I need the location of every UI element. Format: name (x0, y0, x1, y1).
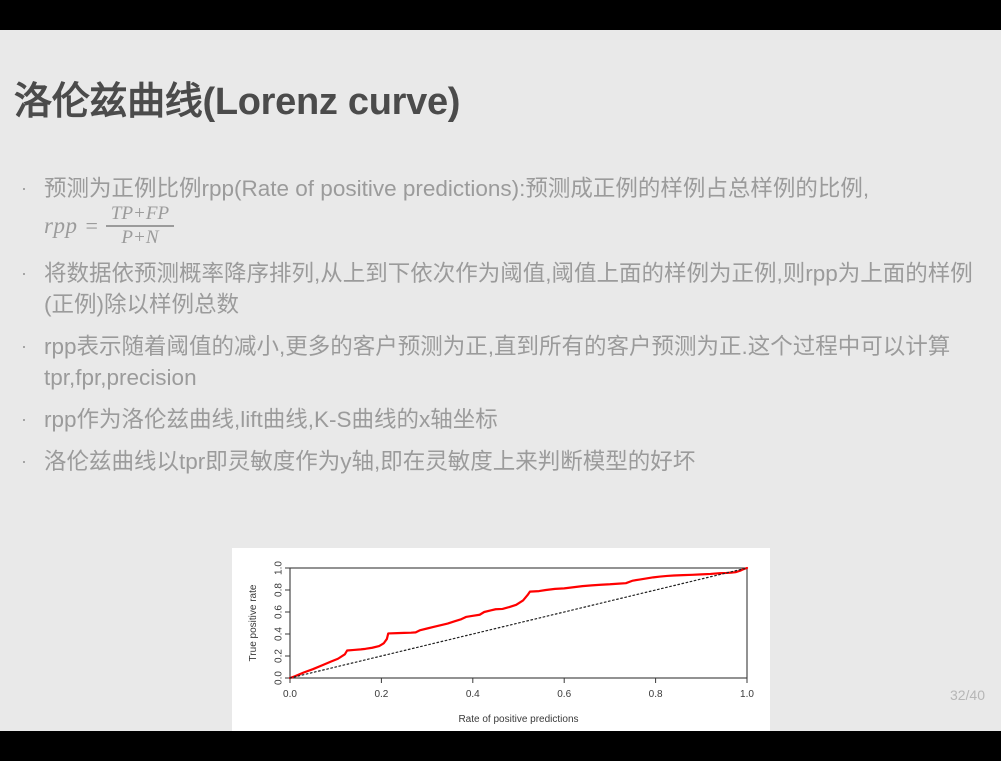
x-axis-label: Rate of positive predictions (458, 714, 578, 725)
x-tick-label: 1.0 (740, 689, 754, 700)
x-tick-label: 0.2 (374, 689, 388, 700)
bullet-text: 预测为正例比例rpp(Rate of positive predictions)… (44, 176, 869, 201)
math-fraction: TP+FPP+N (106, 204, 174, 247)
bullet-text: 将数据依预测概率降序排列,从上到下依次作为阈值,阈值上面的样例为正例,则rpp为… (44, 261, 973, 317)
x-tick-label: 0.0 (283, 689, 297, 700)
x-tick-label: 0.6 (557, 689, 571, 700)
bullet-marker: · (21, 331, 27, 362)
series-random-baseline (290, 568, 747, 678)
y-tick-label: 0.4 (274, 627, 285, 641)
y-tick-label: 0.6 (274, 605, 285, 619)
y-tick-label: 0.0 (274, 671, 285, 685)
slide-viewer: 洛伦兹曲线(Lorenz curve) · 预测为正例比例rpp(Rate of… (0, 0, 1001, 761)
math-variable: rpp (44, 210, 77, 241)
bullet-x-axis: · rpp作为洛伦兹曲线,lift曲线,K-S曲线的x轴坐标 (14, 404, 989, 435)
bullet-text: rpp作为洛伦兹曲线,lift曲线,K-S曲线的x轴坐标 (44, 407, 498, 432)
page-title: 洛伦兹曲线(Lorenz curve) (14, 70, 460, 125)
y-tick-label: 0.8 (274, 583, 285, 597)
bullet-marker: · (21, 404, 27, 435)
y-axis-label: True positive rate (248, 584, 259, 661)
bullet-list: · 预测为正例比例rpp(Rate of positive prediction… (14, 173, 989, 488)
lorenz-curve-chart-panel: 0.00.20.40.60.81.00.00.20.40.60.81.0Rate… (232, 548, 770, 731)
bullet-marker: · (21, 258, 27, 289)
bullet-sort-threshold: · 将数据依预测概率降序排列,从上到下依次作为阈值,阈值上面的样例为正例,则rp… (14, 258, 989, 320)
slide-content: 洛伦兹曲线(Lorenz curve) · 预测为正例比例rpp(Rate of… (0, 30, 1001, 731)
math-denominator: P+N (116, 227, 163, 248)
bullet-threshold-decrease: · rpp表示随着阈值的减小,更多的客户预测为正,直到所有的客户预测为正.这个过… (14, 331, 989, 393)
bullet-text: rpp表示随着阈值的减小,更多的客户预测为正,直到所有的客户预测为正.这个过程中… (44, 334, 950, 390)
x-tick-label: 0.8 (649, 689, 663, 700)
top-letterbox-bar (0, 0, 1001, 30)
bullet-marker: · (21, 173, 27, 204)
bullet-marker: · (21, 446, 27, 477)
x-tick-label: 0.4 (466, 689, 480, 700)
lorenz-curve-chart: 0.00.20.40.60.81.00.00.20.40.60.81.0Rate… (232, 548, 770, 731)
math-equals: = (85, 210, 97, 241)
y-tick-label: 1.0 (274, 561, 285, 575)
bullet-y-axis: · 洛伦兹曲线以tpr即灵敏度作为y轴,即在灵敏度上来判断模型的好坏 (14, 446, 989, 477)
bottom-letterbox-bar (0, 731, 1001, 761)
math-formula-rpp: rpp=TP+FPP+N (44, 204, 174, 247)
y-tick-label: 0.2 (274, 649, 285, 663)
page-indicator: 32/40 (950, 687, 985, 703)
bullet-rpp-definition: · 预测为正例比例rpp(Rate of positive prediction… (14, 173, 989, 247)
math-numerator: TP+FP (106, 204, 174, 225)
bullet-text: 洛伦兹曲线以tpr即灵敏度作为y轴,即在灵敏度上来判断模型的好坏 (44, 449, 695, 474)
